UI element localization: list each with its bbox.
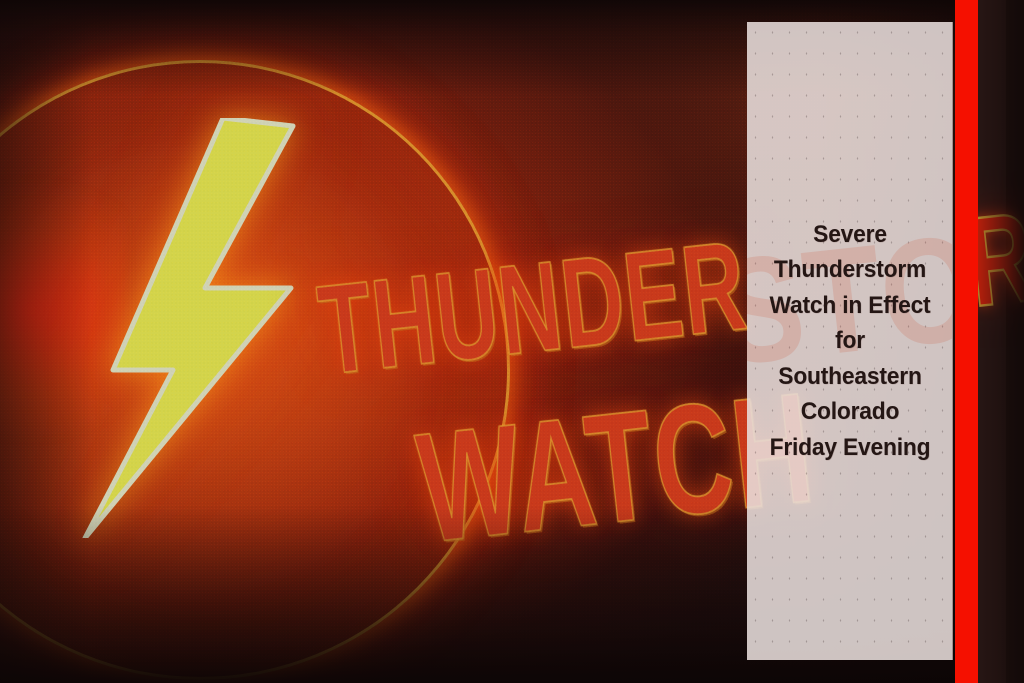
caption-line: Colorado [758,394,940,430]
caption-line: Southeastern [758,359,940,395]
screenshot-root: THUNDER WATCH RM STORM Severe Thundersto… [0,0,1024,683]
caption-line: for [758,323,940,359]
caption-line: Severe [758,217,940,253]
right-edge-shade [978,0,1024,683]
caption-text: Severe Thunderstorm Watch in Effect for … [758,217,940,466]
red-accent-bar [955,0,978,683]
caption-panel: STORM Severe Thunderstorm Watch in Effec… [747,22,953,660]
caption-line: Thunderstorm [758,252,940,288]
caption-line: Watch in Effect [758,288,940,324]
right-edge-strip: RM [978,0,1024,683]
caption-line: Friday Evening [758,430,940,466]
